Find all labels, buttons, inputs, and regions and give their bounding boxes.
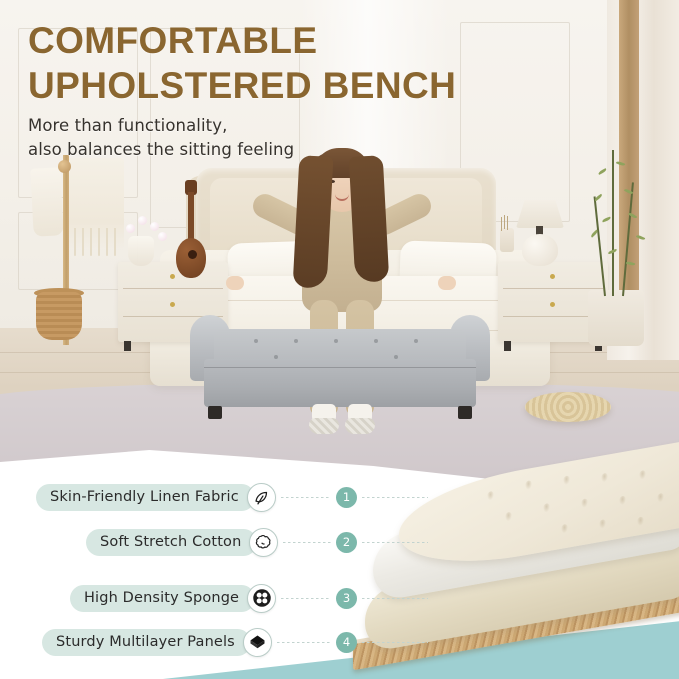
feature-badge-4: 4 [336,632,357,653]
macrame-fringe [114,228,116,256]
blossom [158,232,167,241]
feature-pill-1[interactable]: Skin-Friendly Linen Fabric [36,484,255,511]
top-layer-tuft [487,491,494,501]
feature-label-3: High Density Sponge [84,590,239,606]
leaf-icon [247,483,276,512]
connector-dots-4 [277,642,331,643]
top-layer-tuft [543,503,550,513]
panel-board-icon [243,628,272,657]
ukulele-sound-hole [188,250,197,259]
top-layer-tuft [657,493,664,503]
feature-label-4: Sturdy Multilayer Panels [56,634,235,650]
feature-badge-3: 3 [336,588,357,609]
woman-slipper [345,418,375,434]
macrame-fringe [90,228,92,256]
top-layer-tuft [601,473,608,483]
macrame-fringe [74,228,76,256]
top-layer-tuft [639,470,646,480]
drawer-knob [550,302,555,307]
bench-lid-seam [204,367,476,368]
drawer-line [123,288,223,289]
blossom [126,224,135,233]
woman-hair-front-left [293,155,334,289]
feature-number-4: 4 [343,635,350,649]
drawer-knob [170,302,175,307]
nightstand-leg [124,341,131,351]
top-layer-tuft [637,516,644,526]
feature-badge-1: 1 [336,487,357,508]
connector-dots-tail-2 [362,542,428,543]
woman-right-hand [438,276,456,290]
feature-pill-4[interactable]: Sturdy Multilayer Panels [42,629,251,656]
woman-left-hand [226,276,244,290]
feature-row-2[interactable]: Soft Stretch Cotton 2 [86,527,428,557]
drawer-knob [550,274,555,279]
connector-dots-tail-4 [362,642,428,643]
plant-pot [588,290,644,346]
feature-pill-3[interactable]: High Density Sponge [70,585,255,612]
subtitle-line-1: More than functionality, [28,114,588,138]
macrame-fringe [82,228,84,256]
woman-slipper [309,418,339,434]
bench-foot [458,406,472,419]
woven-floor-cushion [525,392,611,422]
seat-tuft [374,339,378,343]
feature-row-4[interactable]: Sturdy Multilayer Panels 4 [42,627,428,657]
top-layer-tuft [581,498,588,508]
hanging-towel [30,167,64,236]
feature-number-3: 3 [343,591,350,605]
flower-vase [128,236,154,266]
macrame-fringe [98,228,100,256]
seat-tuft [294,339,298,343]
blossom [138,216,147,225]
ukulele-neck [188,192,194,242]
top-layer-tuft [563,475,570,485]
seat-tuft [334,339,338,343]
drawer-line [503,288,603,289]
connector-dots-3 [281,598,331,599]
product-marketing-poster: COMFORTABLE UPHOLSTERED BENCH More than … [0,0,679,679]
headline-line-1: COMFORTABLE [28,18,588,63]
connector-dots-tail-1 [362,497,428,498]
sponge-pores-icon [247,584,276,613]
feature-label-2: Soft Stretch Cotton [100,534,241,550]
macrame-fringe [106,228,108,256]
table-lamp-base [522,234,558,266]
top-layer-tuft [505,512,512,522]
upholstered-storage-bench [190,315,490,420]
top-layer-tuft [619,495,626,505]
blossom [150,222,159,231]
connector-dots-tail-3 [362,598,428,599]
feature-number-2: 2 [343,535,350,549]
feature-label-1: Skin-Friendly Linen Fabric [50,489,239,505]
subtitle-block: More than functionality, also balances t… [28,114,588,162]
top-layer-tuft [599,519,606,529]
top-layer-tuft [525,480,532,490]
drawer-knob [170,274,175,279]
bamboo-stem [612,150,614,296]
subtitle-line-2: also balances the sitting feeling [28,138,588,162]
reed-diffuser [500,228,514,252]
nightstand-leg [504,341,511,351]
connector-dots-1 [281,497,331,498]
feature-badge-2: 2 [336,532,357,553]
headline-block: COMFORTABLE UPHOLSTERED BENCH More than … [28,18,588,162]
seat-tuft [254,339,258,343]
seat-tuft [414,339,418,343]
feature-row-1[interactable]: Skin-Friendly Linen Fabric 1 [36,482,428,512]
feature-pill-2[interactable]: Soft Stretch Cotton [86,529,257,556]
woven-storage-basket [36,292,82,340]
woman-hair-front-right [349,155,390,283]
cotton-boll-icon [249,528,278,557]
feature-number-1: 1 [343,490,350,504]
feature-list: Skin-Friendly Linen Fabric 1 Soft Stretc… [0,464,430,679]
connector-dots-2 [283,542,331,543]
headline-line-2: UPHOLSTERED BENCH [28,63,588,108]
feature-row-3[interactable]: High Density Sponge 3 [70,583,428,613]
top-layer-tuft [561,524,568,534]
bench-foot [208,406,222,419]
